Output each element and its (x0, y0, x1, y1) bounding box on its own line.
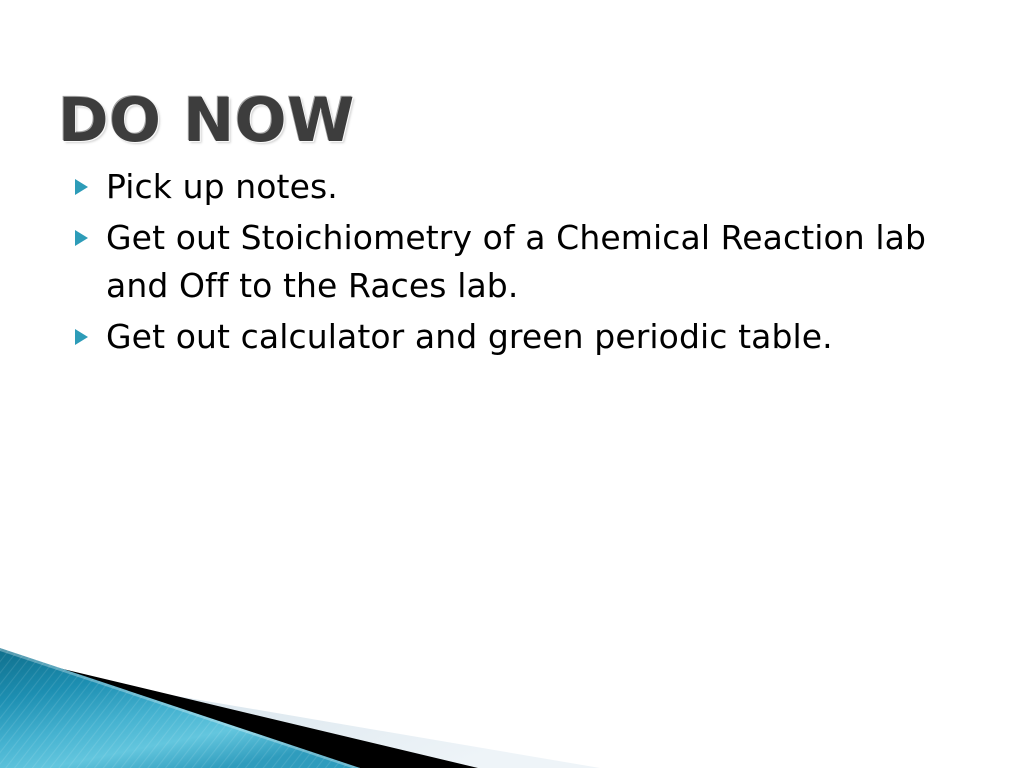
teal-edge-highlight (0, 648, 360, 768)
black-stripe (0, 654, 478, 768)
list-item-label: Get out calculator and green periodic ta… (106, 313, 972, 361)
list-item-label: Pick up notes. (106, 163, 972, 211)
teal-wedge (0, 648, 360, 768)
slide-canvas: DO NOW Pick up notes. Get out Stoichiome… (0, 0, 1024, 768)
bullet-list: Pick up notes. Get out Stoichiometry of … (62, 163, 972, 364)
list-item: Get out Stoichiometry of a Chemical Reac… (62, 214, 972, 310)
pale-blue-wedge (0, 666, 600, 768)
page-title: DO NOW (58, 85, 355, 157)
list-item: Pick up notes. (62, 163, 972, 211)
corner-decoration (0, 638, 1024, 768)
triangle-bullet-icon (75, 329, 88, 345)
triangle-bullet-icon (75, 179, 88, 195)
list-item: Get out calculator and green periodic ta… (62, 313, 972, 361)
triangle-bullet-icon (75, 230, 88, 246)
list-item-label: Get out Stoichiometry of a Chemical Reac… (106, 214, 972, 310)
teal-wedge-texture (0, 648, 360, 768)
